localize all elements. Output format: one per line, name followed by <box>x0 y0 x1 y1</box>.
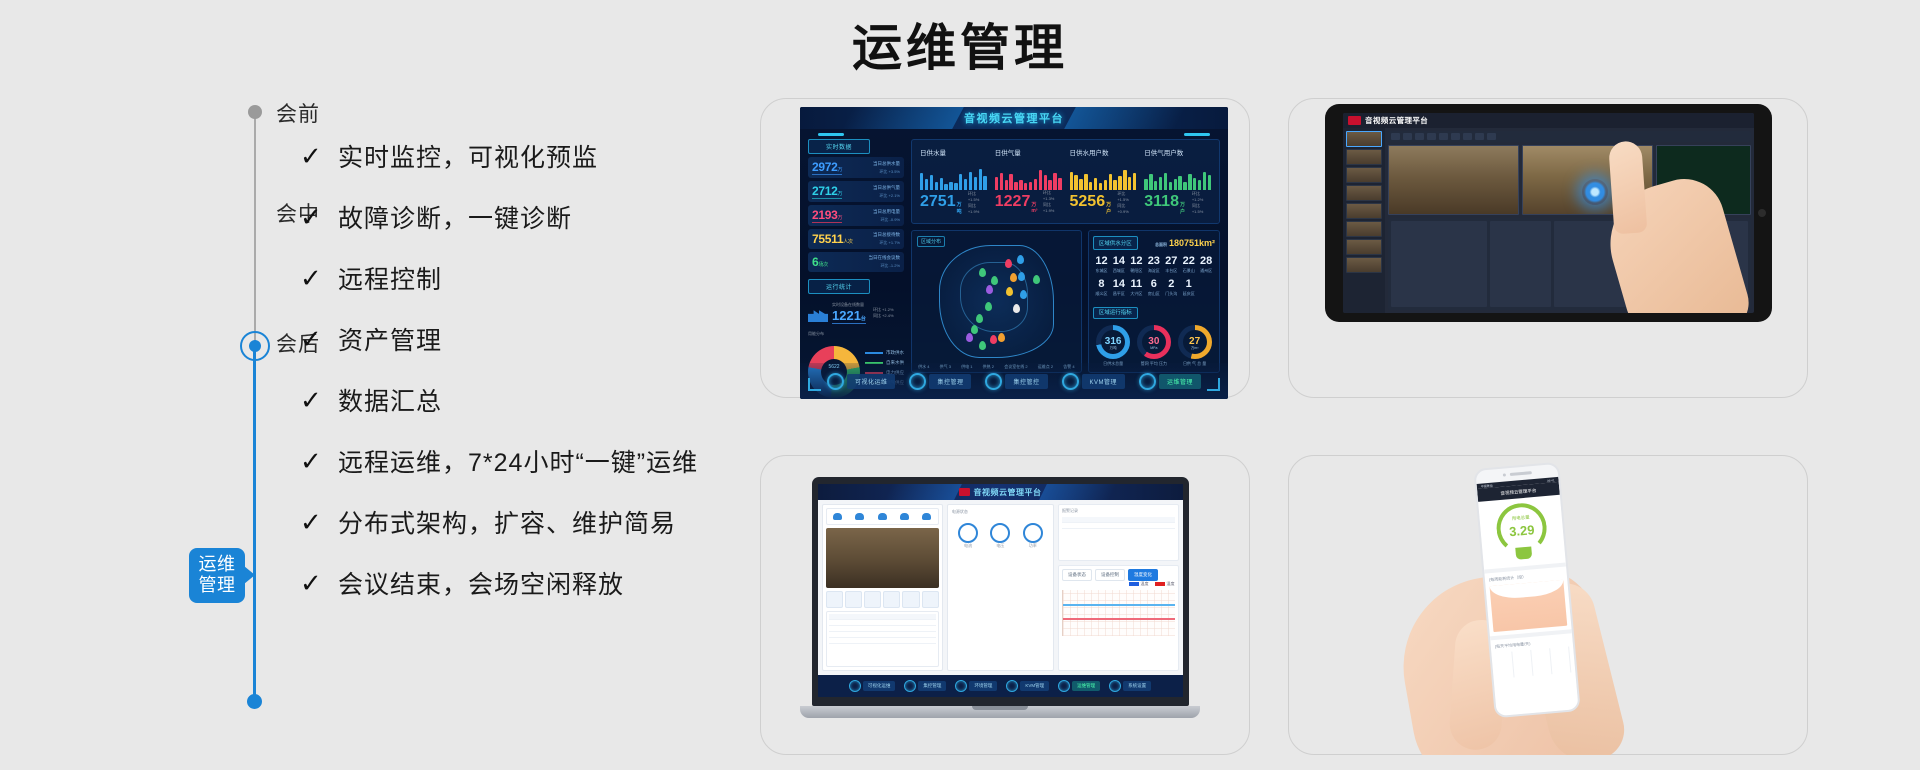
bar-card: 日供水用户数 5256万户 环比 +1.5% 同比 +0.9% <box>1066 147 1141 218</box>
dashboard-footer-nav: 可视化运维 集控管理 集控管控 KVM管理 运维管理 <box>800 363 1228 399</box>
timeline-badge-ops-management[interactable]: 运维 管理 <box>189 548 245 603</box>
map-pin <box>985 302 992 311</box>
kpi-unit: 场次 <box>818 262 827 268</box>
knob-icon <box>849 680 861 692</box>
phone-app-title: 音视频云管理平台 <box>1500 487 1536 496</box>
thumbnail-item[interactable] <box>1346 239 1382 255</box>
left-subsection-title: 运行统计 <box>808 279 870 294</box>
knob-icon <box>955 680 967 692</box>
region-number-cell[interactable]: 8顺义区 <box>1093 278 1110 297</box>
tab-device-control[interactable]: 设备控制 <box>1095 569 1125 581</box>
device-delta-2: 同比 +2.4% <box>873 313 894 319</box>
control-thumb-a[interactable] <box>1391 221 1487 307</box>
region-number-cell[interactable]: 1延庆区 <box>1180 278 1197 297</box>
phone-screen: 中国移动 09:41 音视频云管理平台 用电总量 3.29 (每周能耗统计（度） <box>1477 477 1579 716</box>
map-pin <box>1017 255 1024 264</box>
bar-delta-1: 环比 +1.2% <box>1192 191 1211 203</box>
pm25-icon <box>878 513 887 520</box>
video-view-1[interactable] <box>1388 145 1519 215</box>
footer-button-label: 系统设置 <box>1123 681 1151 691</box>
bar-card: 日供气用户数 3118万户 环比 +1.2% 同比 +1.5% <box>1140 147 1215 218</box>
environment-strip <box>826 508 939 525</box>
scene-mode-6-icon[interactable] <box>922 591 939 608</box>
timeline-line-upper <box>254 112 256 344</box>
dashboard-header: 音视频云管理平台 <box>800 107 1228 129</box>
kpi-card[interactable]: 2193万 当日总用电量 环比 -0.9% <box>808 205 904 226</box>
bar-chart <box>920 162 987 190</box>
map-pin <box>976 314 983 323</box>
toolbar-icon[interactable] <box>1427 133 1436 140</box>
brand-logo-icon <box>1348 116 1361 125</box>
timeline-dot-end[interactable] <box>247 694 262 709</box>
kpi-value: 2712万 <box>812 184 842 199</box>
badge-line-1: 运维 <box>193 554 241 575</box>
toolbar-icon[interactable] <box>1403 133 1412 140</box>
kpi-value: 2193万 <box>812 208 842 223</box>
bar-card-value: 1227万m³ <box>995 193 1038 214</box>
current-gauge-icon <box>958 523 978 543</box>
map-pin <box>966 333 973 342</box>
light-icon <box>922 513 931 520</box>
thumbnail-item[interactable] <box>1346 203 1382 219</box>
phone-weekly-section: (每周能耗统计（度） <box>1484 563 1572 637</box>
donut-title: 用能分布 <box>808 331 904 337</box>
kpi-unit: 万 <box>838 167 843 173</box>
kpi-card[interactable]: 2712万 当日总供气量 环比 +2.1% <box>808 181 904 202</box>
kpi-name: 当日总供水量 <box>873 161 900 167</box>
bar-delta-1: 环比 +1.5% <box>1117 191 1136 203</box>
scene-mode-4-icon[interactable] <box>883 591 900 608</box>
footer-button-label: 运维管理 <box>1159 374 1201 389</box>
feature-label: 远程控制 <box>338 260 442 296</box>
knob-icon <box>1058 680 1070 692</box>
bar-card-caption: 日供水用户数 <box>1070 147 1137 157</box>
speaker-icon <box>1509 471 1531 475</box>
region-map[interactable]: 区域分布 <box>911 230 1082 373</box>
region-total-value: 总面积180751km² <box>1155 238 1215 248</box>
temperature-line-chart <box>1062 590 1175 636</box>
footer-button-label: 可视化运维 <box>863 681 896 691</box>
map-pin <box>990 335 997 344</box>
footer-button[interactable]: 集控管理 <box>904 680 946 692</box>
ring-unit: 万吨 <box>1096 346 1130 351</box>
corner-decor-right <box>1207 378 1220 391</box>
tablet-screen: 音视频云管理平台 <box>1343 113 1754 313</box>
dashboard-lower-row: 区域分布 <box>911 230 1220 373</box>
bar-chart <box>995 162 1062 190</box>
footer-button-label: 环境管理 <box>969 681 997 691</box>
breakdown-cell[interactable] <box>1514 650 1533 677</box>
laptop-app-header: 音视频云管理平台 <box>818 484 1183 500</box>
noise-icon <box>900 513 909 520</box>
tablet-toolbar[interactable] <box>1388 131 1751 142</box>
header-accent-left <box>818 133 844 136</box>
legend-humidity: 湿度 <box>1155 581 1175 587</box>
legend-temperature: 温度 <box>1129 581 1149 587</box>
kpi-card[interactable]: 2972万 当日总供水量 环比 +3.5% <box>808 157 904 178</box>
bar-card-unit: 万m³ <box>1031 201 1038 214</box>
knob-icon <box>1139 373 1156 390</box>
breakdown-cell[interactable] <box>1533 648 1552 675</box>
corner-decor-left <box>808 378 821 391</box>
region-number-cell[interactable]: 6房山区 <box>1145 278 1162 297</box>
region-number-cell[interactable]: 14西城区 <box>1110 255 1127 274</box>
dashboard-title: 音视频云管理平台 <box>964 110 1064 126</box>
check-icon: ✓ <box>300 265 338 291</box>
footer-button[interactable]: 环境管理 <box>955 680 997 692</box>
footer-button-label: 集控管理 <box>918 681 946 691</box>
camera-icon <box>1502 473 1505 476</box>
footer-button[interactable]: KVM管理 <box>1006 680 1049 692</box>
device-online-row: 实时设备在线数量 1221台 环比 +1.2% 同比 +2.4% <box>808 302 904 324</box>
bar-card: 日供水量 2751万吨 环比 +1.5% 同比 +1.9% <box>916 147 991 218</box>
kpi-delta: 环比 +3.5% <box>873 169 900 175</box>
alarm-title: 报警记录 <box>1062 508 1175 514</box>
footer-button[interactable]: 集控管控 <box>985 373 1047 390</box>
laptop-base <box>800 706 1200 718</box>
scene-mode-2-icon[interactable] <box>845 591 862 608</box>
gauge-label: 电流 <box>958 543 978 549</box>
gauge-label: 功率 <box>1023 543 1043 549</box>
donut-center-value: 5622 <box>808 364 860 370</box>
feature-label: 会议结束，会场空闲释放 <box>338 565 624 601</box>
toolbar-icon[interactable] <box>1487 133 1496 140</box>
knob-icon <box>985 373 1002 390</box>
kpi-name: 当日总用电量 <box>873 209 900 215</box>
dashboard-main-panel: 日供水量 2751万吨 环比 +1.5% 同比 +1.9% 日供气量 <box>911 139 1220 373</box>
check-icon: ✓ <box>300 570 338 596</box>
table-row[interactable] <box>829 638 936 644</box>
footer-button[interactable]: 可视化运维 <box>827 373 896 390</box>
map-pin <box>1005 259 1012 268</box>
phone-daily-section: (每天平均用电量/天) <box>1490 629 1576 683</box>
humidity-series-line <box>1063 618 1175 620</box>
bar-delta-2: 同比 +1.9% <box>968 203 987 215</box>
knob-icon <box>1062 373 1079 390</box>
bar-card-unit: 万户 <box>1106 201 1112 215</box>
legend-item: 市政供水 <box>865 350 904 356</box>
temperature-icon <box>833 513 842 520</box>
chart-tabs[interactable]: 设备状态 设备控制 温度变化 <box>1062 569 1175 581</box>
check-icon: ✓ <box>300 448 338 474</box>
map-pin <box>1010 273 1017 282</box>
check-icon: ✓ <box>300 326 338 352</box>
region-number-grid: 12东城区14西城区12朝阳区23海淀区27丰台区22石景山28通州区8顺义区1… <box>1093 255 1215 301</box>
map-pin <box>986 285 993 294</box>
bar-card-value: 5256万户 <box>1070 193 1113 215</box>
footer-button[interactable]: KVM管理 <box>1062 373 1126 390</box>
device-online-unit: 台 <box>861 316 866 322</box>
timeline-label-during[interactable]: 会中 <box>130 198 320 228</box>
map-tag: 区域分布 <box>917 236 945 247</box>
footer-button-label: 运维管理 <box>1072 681 1100 691</box>
left-section-title: 实时数据 <box>808 139 870 154</box>
feature-item: ✓ 故障诊断，一键诊断 <box>300 186 760 247</box>
region-number-cell[interactable]: 27丰台区 <box>1163 255 1180 274</box>
ring-gauge: 27 万m³ <box>1178 325 1212 359</box>
dashboard-body: 实时数据 2972万 当日总供水量 环比 +3.5% 2712万 当日总供气量 … <box>800 129 1228 373</box>
thumbnail-item[interactable] <box>1346 185 1382 201</box>
laptop-device: 音视频云管理平台 <box>800 477 1200 727</box>
ring-unit: MPa <box>1137 346 1171 350</box>
knob-icon <box>904 680 916 692</box>
kpi-delta: 环比 +1.7% <box>873 240 900 246</box>
bulb-icon: 用电总量 3.29 <box>1495 501 1550 563</box>
thumbnail-item[interactable] <box>1346 149 1382 165</box>
kpi-value: 2972万 <box>812 160 842 175</box>
bar-card-unit: 万户 <box>1180 201 1187 215</box>
voltage-gauge-icon <box>990 523 1010 543</box>
laptop-left-column <box>822 504 943 671</box>
feature-item: ✓ 分布式架构，扩容、维护简易 <box>300 491 760 552</box>
kpi-card[interactable]: 6场次 当日在线会议数 环比 -1.2% <box>808 252 904 272</box>
bar-card-value: 2751万吨 <box>920 193 963 215</box>
tablet-app-title: 音视频云管理平台 <box>1365 115 1428 126</box>
thumbnail-item[interactable] <box>1346 221 1382 237</box>
feature-label: 数据汇总 <box>338 382 442 418</box>
alarm-row[interactable] <box>1062 523 1175 529</box>
header-accent-right <box>1184 133 1210 136</box>
toolbar-icon[interactable] <box>1475 133 1484 140</box>
knob-icon <box>827 373 844 390</box>
scene-mode-3-icon[interactable] <box>864 591 881 608</box>
knob-icon <box>1006 680 1018 692</box>
scene-mode-buttons[interactable] <box>826 591 939 608</box>
power-status-card: 电源状态 电流 电压 功率 <box>947 504 1054 671</box>
dashboard-left-panel: 实时数据 2972万 当日总供水量 环比 +3.5% 2712万 当日总供气量 … <box>808 139 904 373</box>
breakdown-cell[interactable] <box>1495 652 1514 679</box>
finger-illustration <box>1608 140 1647 234</box>
kpi-bar-cards: 日供水量 2751万吨 环比 +1.5% 同比 +1.9% 日供气量 <box>911 139 1220 224</box>
feature-label: 分布式架构，扩容、维护简易 <box>338 504 676 540</box>
footer-button[interactable]: 可视化运维 <box>849 680 896 692</box>
ring-unit: 万m³ <box>1178 346 1212 351</box>
thumbnail-item[interactable] <box>1346 167 1382 183</box>
feature-label: 资产管理 <box>338 321 442 357</box>
footer-button[interactable]: 集控管理 <box>909 373 971 390</box>
kpi-delta: 环比 -0.9% <box>873 217 900 223</box>
breakdown-cell[interactable] <box>1552 647 1571 674</box>
phone-in-hand: 中国移动 09:41 音视频云管理平台 用电总量 3.29 (每周能耗统计（度） <box>1288 455 1808 755</box>
kpi-name: 当日在线会议数 <box>869 255 901 261</box>
badge-line-2: 管理 <box>193 575 241 596</box>
check-icon: ✓ <box>300 143 338 169</box>
timeline: 会前 会中 会后 运维 管理 <box>0 0 320 770</box>
check-icon: ✓ <box>300 204 338 230</box>
factory-icon <box>808 304 828 322</box>
bar-delta-1: 环比 +1.3% <box>1043 190 1062 202</box>
toolbar-icon[interactable] <box>1415 133 1424 140</box>
chart-legend: 温度 湿度 <box>1062 581 1175 587</box>
control-thumb-b[interactable] <box>1490 221 1551 307</box>
bar-card-value: 3118万户 <box>1144 193 1187 215</box>
bar-card-caption: 日供气量 <box>995 147 1062 157</box>
daily-breakdown <box>1495 647 1571 679</box>
region-number-cell[interactable]: 12东城区 <box>1093 255 1110 274</box>
map-pin <box>1020 290 1027 299</box>
brand-logo-icon <box>959 488 970 496</box>
thumbnail-item[interactable] <box>1346 131 1382 147</box>
feature-item: ✓ 会议结束，会场空闲释放 <box>300 552 760 613</box>
kpi-card[interactable]: 75511人次 当日总接待数 环比 +1.7% <box>808 229 904 249</box>
tablet-app-header: 音视频云管理平台 <box>1343 113 1754 128</box>
toolbar-icon[interactable] <box>1439 133 1448 140</box>
feature-item: ✓ 资产管理 <box>300 308 760 369</box>
feature-item: ✓ 数据汇总 <box>300 369 760 430</box>
footer-button[interactable]: 系统设置 <box>1109 680 1151 692</box>
bulb-base <box>1515 546 1532 559</box>
map-pin <box>998 333 1005 342</box>
kpi-name: 当日总供气量 <box>873 185 900 191</box>
bar-chart <box>1144 162 1211 190</box>
bar-card-caption: 日供水量 <box>920 147 987 157</box>
footer-button-active[interactable]: 运维管理 <box>1139 373 1201 390</box>
knob-icon <box>909 373 926 390</box>
region-total-label: 总面积 <box>1155 242 1167 247</box>
laptop-screen: 音视频云管理平台 <box>818 484 1183 697</box>
laptop-lid: 音视频云管理平台 <box>812 477 1189 706</box>
footer-button-active[interactable]: 运维管理 <box>1058 680 1100 692</box>
kpi-unit: 万 <box>838 191 843 197</box>
footer-button-label: KVM管理 <box>1082 374 1126 389</box>
bar-card-caption: 日供气用户数 <box>1144 147 1211 157</box>
tablet-device: 音视频云管理平台 <box>1325 104 1772 322</box>
operation-log-table <box>826 611 939 667</box>
kpi-value: 75511人次 <box>812 232 853 246</box>
dashboard-screenshot: 音视频云管理平台 实时数据 2972万 当日总供水量 环比 +3.5% 2712… <box>800 107 1228 399</box>
weekly-area-chart <box>1490 580 1568 632</box>
timeline-label-after[interactable]: 会后 <box>130 328 320 358</box>
bar-delta-1: 环比 +1.5% <box>968 191 987 203</box>
footer-button-label: 集控管理 <box>929 374 971 389</box>
toolbar-icon[interactable] <box>1391 133 1400 140</box>
timeline-line-lower <box>253 344 256 708</box>
bar-chart <box>1070 162 1137 190</box>
toolbar-icon[interactable] <box>1463 133 1472 140</box>
feature-label: 故障诊断，一键诊断 <box>338 199 572 235</box>
bar-delta-2: 同比 +1.9% <box>1043 202 1062 214</box>
feature-label: 远程运维，7*24小时“一键”运维 <box>338 443 698 479</box>
scene-mode-1-icon[interactable] <box>826 591 843 608</box>
ring-gauge: 30 MPa <box>1137 325 1171 359</box>
feature-label: 实时监控，可视化预监 <box>338 138 598 174</box>
footer-button-label: 集控管控 <box>1005 374 1047 389</box>
laptop-right-column: 报警记录 设备状态 设备控制 温度变化 温度 <box>1058 504 1179 671</box>
timeline-label-before[interactable]: 会前 <box>130 98 320 128</box>
region-number-cell[interactable]: 22石景山 <box>1180 255 1197 274</box>
device-online-value: 1221台 <box>832 308 866 324</box>
kpi-delta: 环比 +2.1% <box>873 193 900 199</box>
phone-hero-gauge: 用电总量 3.29 <box>1478 495 1566 570</box>
touch-ripple-icon <box>1582 179 1608 205</box>
gauge-label: 电压 <box>990 543 1010 549</box>
thumbnail-item[interactable] <box>1346 257 1382 273</box>
ring-gauge: 316 万吨 <box>1096 325 1130 359</box>
kpi-unit: 人次 <box>843 239 852 245</box>
feature-item: ✓ 远程运维，7*24小时“一键”运维 <box>300 430 760 491</box>
tab-temperature-trend[interactable]: 温度变化 <box>1128 569 1158 581</box>
bar-delta-2: 同比 +1.5% <box>1192 203 1211 215</box>
feature-item: ✓ 实时监控，可视化预监 <box>300 125 760 186</box>
check-icon: ✓ <box>300 387 338 413</box>
check-icon: ✓ <box>300 509 338 535</box>
feature-list: ✓ 实时监控，可视化预监 ✓ 故障诊断，一键诊断 ✓ 远程控制 ✓ 资产管理 ✓… <box>300 125 760 613</box>
feature-item: ✓ 远程控制 <box>300 247 760 308</box>
tab-device-status[interactable]: 设备状态 <box>1062 569 1092 581</box>
bar-card-unit: 万吨 <box>957 201 963 215</box>
region-rings: 316 万吨 日供水总量 30 MPa 管网 平均 压力 <box>1093 325 1215 367</box>
humidity-icon <box>855 513 864 520</box>
region-pill: 区域供水分区 <box>1093 236 1138 250</box>
knob-icon <box>1109 680 1121 692</box>
kpi-delta: 环比 -1.2% <box>869 263 901 269</box>
region-stats-panel: 区域供水分区 总面积180751km² 12东城区14西城区12朝阳区23海淀区… <box>1088 230 1220 373</box>
laptop-footer-nav: 可视化运维 集控管理 环境管理 KVM管理 <box>818 675 1183 697</box>
temperature-chart-card: 设备状态 设备控制 温度变化 温度 湿度 <box>1058 565 1179 671</box>
kpi-unit: 万 <box>838 215 843 221</box>
power-gauge-icon <box>1023 523 1043 543</box>
footer-button-label: 可视化运维 <box>847 374 896 389</box>
kpi-name: 当日总接待数 <box>873 232 900 238</box>
bar-delta-2: 同比 +0.9% <box>1117 203 1136 215</box>
toolbar-icon[interactable] <box>1451 133 1460 140</box>
region-pill-2: 区域运行指标 <box>1093 307 1138 319</box>
page-root: 运维管理 会前 会中 会后 运维 管理 ✓ 实时监控，可视化预监 ✓ 故障诊断，… <box>0 0 1920 770</box>
region-number-cell[interactable]: 12朝阳区 <box>1128 255 1145 274</box>
tablet-thumbnail-rail[interactable] <box>1343 128 1385 313</box>
temperature-series-line <box>1063 604 1175 606</box>
region-number-cell[interactable]: 2门头沟 <box>1163 278 1180 297</box>
region-number-cell[interactable]: 23海淀区 <box>1145 255 1162 274</box>
bar-card: 日供气量 1227万m³ 环比 +1.3% 同比 +1.9% <box>991 147 1066 218</box>
footer-button-label: KVM管理 <box>1020 681 1049 691</box>
scene-mode-5-icon[interactable] <box>902 591 919 608</box>
clock-label: 09:41 <box>1547 478 1555 483</box>
region-number-cell[interactable]: 11大兴区 <box>1128 278 1145 297</box>
kpi-value: 6场次 <box>812 255 828 269</box>
laptop-app-title: 音视频云管理平台 <box>974 487 1042 498</box>
region-number-cell[interactable]: 28通州区 <box>1197 255 1214 274</box>
meeting-room-photo <box>826 528 939 588</box>
region-number-cell[interactable]: 14昌平区 <box>1110 278 1127 297</box>
alarm-log-card: 报警记录 <box>1058 504 1179 561</box>
map-pin <box>1018 272 1025 281</box>
